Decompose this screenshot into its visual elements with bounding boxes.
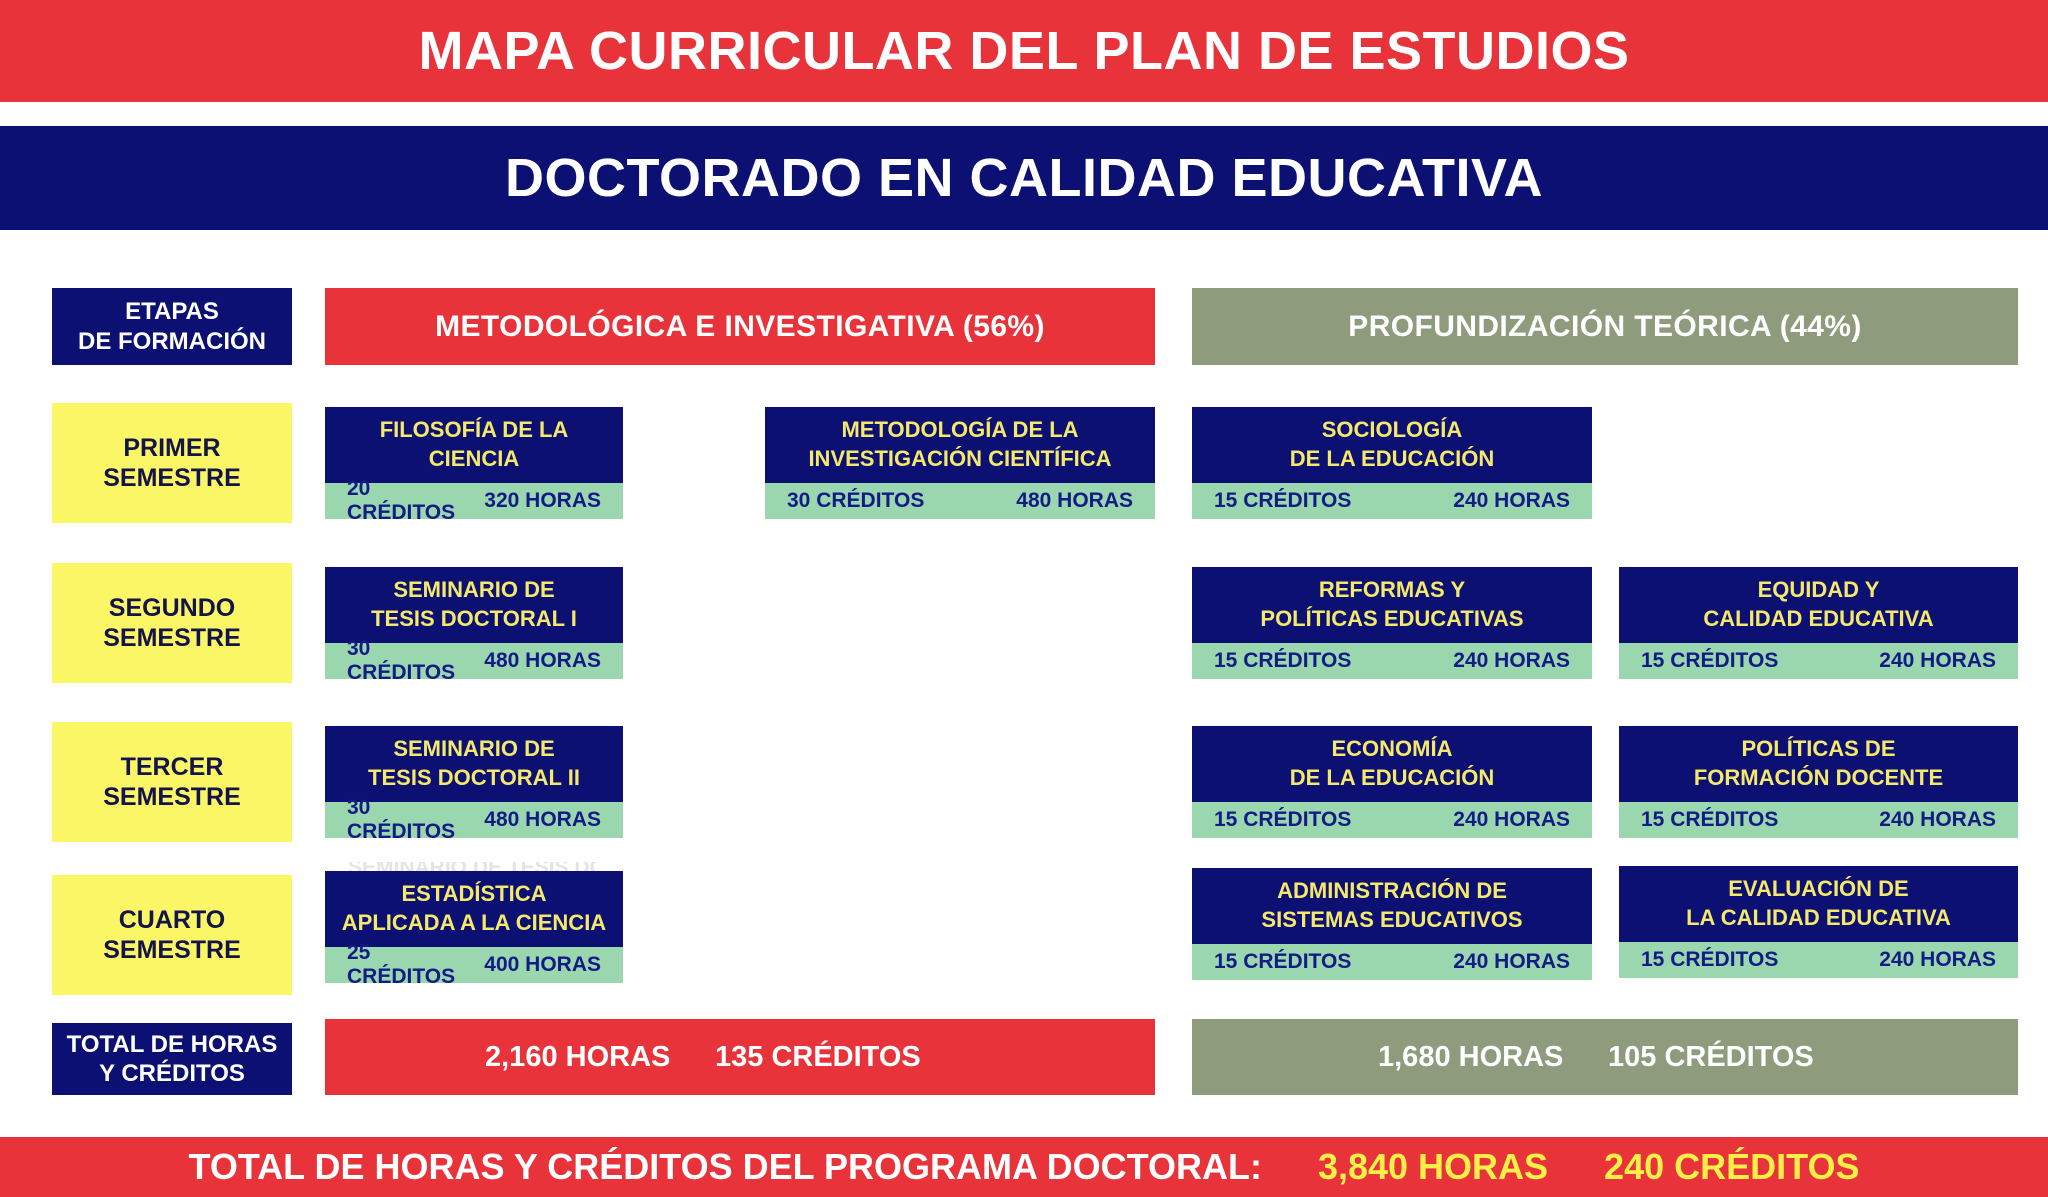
course-hours: 480 HORAS: [484, 808, 601, 832]
course-hours: 320 HORAS: [484, 489, 601, 513]
course-credits: 15 CRÉDITOS: [1641, 808, 1778, 832]
course-title: SEMINARIO DE TESIS DOCTORAL I: [325, 567, 623, 643]
course-meta: 15 CRÉDITOS 240 HORAS: [1192, 944, 1592, 980]
course-meta: 15 CRÉDITOS 240 HORAS: [1192, 483, 1592, 519]
course-card-metodologia-de-la-investigacion-cientifica[interactable]: METODOLOGÍA DE LA INVESTIGACIÓN CIENTÍFI…: [765, 407, 1155, 519]
course-hours: 240 HORAS: [1879, 948, 1996, 972]
course-hours: 400 HORAS: [484, 953, 601, 977]
totals-methodological-bar: 2,160 HORAS 135 CRÉDITOS: [325, 1019, 1155, 1095]
course-title: FILOSOFÍA DE LA CIENCIA: [325, 407, 623, 483]
course-card-seminario-de-tesis-doctoral-ii[interactable]: SEMINARIO DE TESIS DOCTORAL II 30 CRÉDIT…: [325, 726, 623, 838]
program-total-credits: 240 CRÉDITOS: [1604, 1146, 1859, 1188]
course-credits: 15 CRÉDITOS: [1214, 489, 1351, 513]
course-title: ESTADÍSTICA APLICADA A LA CIENCIA: [325, 871, 623, 947]
course-hours: 240 HORAS: [1879, 808, 1996, 832]
totals-theoretical-credits: 105 CRÉDITOS: [1608, 1041, 1814, 1074]
semester-label-tercer: TERCER SEMESTRE: [52, 722, 292, 842]
stage-header-methodological-label: METODOLÓGICA E INVESTIGATIVA (56%): [435, 310, 1045, 344]
course-credits: 15 CRÉDITOS: [1214, 649, 1351, 673]
course-hours: 240 HORAS: [1453, 950, 1570, 974]
totals-legend-label: TOTAL DE HORAS Y CRÉDITOS: [67, 1030, 278, 1089]
course-card-estadistica-aplicada-a-la-ciencia[interactable]: ESTADÍSTICA APLICADA A LA CIENCIA 25 CRÉ…: [325, 871, 623, 983]
program-title: DOCTORADO EN CALIDAD EDUCATIVA: [505, 147, 1543, 209]
course-meta: 30 CRÉDITOS 480 HORAS: [325, 643, 623, 679]
course-meta: 30 CRÉDITOS 480 HORAS: [325, 802, 623, 838]
totals-legend-box: TOTAL DE HORAS Y CRÉDITOS: [52, 1023, 292, 1095]
main-title-bar: MAPA CURRICULAR DEL PLAN DE ESTUDIOS: [0, 0, 2048, 102]
program-title-bar: DOCTORADO EN CALIDAD EDUCATIVA: [0, 126, 2048, 230]
program-total-hours: 3,840 HORAS: [1318, 1146, 1548, 1188]
semester-label-segundo-text: SEGUNDO SEMESTRE: [103, 593, 241, 654]
course-card-administracion-de-sistemas-educativos[interactable]: ADMINISTRACIÓN DE SISTEMAS EDUCATIVOS 15…: [1192, 868, 1592, 980]
program-totals-label: TOTAL DE HORAS Y CRÉDITOS DEL PROGRAMA D…: [189, 1146, 1262, 1188]
course-credits: 30 CRÉDITOS: [787, 489, 924, 513]
course-meta: 15 CRÉDITOS 240 HORAS: [1619, 643, 2018, 679]
course-credits: 20 CRÉDITOS: [347, 477, 484, 525]
course-title: SEMINARIO DE TESIS DOCTORAL II: [325, 726, 623, 802]
semester-label-cuarto: CUARTO SEMESTRE: [52, 875, 292, 995]
course-hours: 240 HORAS: [1453, 808, 1570, 832]
course-title: REFORMAS Y POLÍTICAS EDUCATIVAS: [1192, 567, 1592, 643]
course-meta: 20 CRÉDITOS 320 HORAS: [325, 483, 623, 519]
curriculum-grid: ETAPAS DE FORMACIÓN METODOLÓGICA E INVES…: [0, 230, 2048, 1120]
course-meta: 15 CRÉDITOS 240 HORAS: [1192, 802, 1592, 838]
course-card-sociologia-de-la-educacion[interactable]: SOCIOLOGÍA DE LA EDUCACIÓN 15 CRÉDITOS 2…: [1192, 407, 1592, 519]
course-card-reformas-y-politicas-educativas[interactable]: REFORMAS Y POLÍTICAS EDUCATIVAS 15 CRÉDI…: [1192, 567, 1592, 679]
semester-label-segundo: SEGUNDO SEMESTRE: [52, 563, 292, 683]
course-meta: 15 CRÉDITOS 240 HORAS: [1619, 942, 2018, 978]
totals-methodological-hours: 2,160 HORAS: [485, 1041, 715, 1074]
stages-legend-box: ETAPAS DE FORMACIÓN: [52, 288, 292, 365]
totals-methodological-credits: 135 CRÉDITOS: [715, 1041, 921, 1074]
stages-legend-label: ETAPAS DE FORMACIÓN: [78, 297, 266, 356]
course-hours: 480 HORAS: [484, 649, 601, 673]
course-card-politicas-de-formacion-docente[interactable]: POLÍTICAS DE FORMACIÓN DOCENTE 15 CRÉDIT…: [1619, 726, 2018, 838]
course-meta: 25 CRÉDITOS 400 HORAS: [325, 947, 623, 983]
totals-theoretical-hours: 1,680 HORAS: [1378, 1041, 1608, 1074]
course-meta: 15 CRÉDITOS 240 HORAS: [1192, 643, 1592, 679]
course-credits: 25 CRÉDITOS: [347, 941, 484, 989]
course-title: ECONOMÍA DE LA EDUCACIÓN: [1192, 726, 1592, 802]
stage-header-theoretical: PROFUNDIZACIÓN TEÓRICA (44%): [1192, 288, 2018, 365]
totals-theoretical-bar: 1,680 HORAS 105 CRÉDITOS: [1192, 1019, 2018, 1095]
stage-header-methodological: METODOLÓGICA E INVESTIGATIVA (56%): [325, 288, 1155, 365]
course-title: METODOLOGÍA DE LA INVESTIGACIÓN CIENTÍFI…: [765, 407, 1155, 483]
course-title: EVALUACIÓN DE LA CALIDAD EDUCATIVA: [1619, 866, 2018, 942]
semester-label-cuarto-text: CUARTO SEMESTRE: [103, 905, 241, 966]
course-credits: 15 CRÉDITOS: [1214, 950, 1351, 974]
course-hours: 240 HORAS: [1879, 649, 1996, 673]
program-totals-footer: TOTAL DE HORAS Y CRÉDITOS DEL PROGRAMA D…: [0, 1137, 2048, 1197]
course-card-evaluacion-de-la-calidad-educativa[interactable]: EVALUACIÓN DE LA CALIDAD EDUCATIVA 15 CR…: [1619, 866, 2018, 978]
course-title: POLÍTICAS DE FORMACIÓN DOCENTE: [1619, 726, 2018, 802]
course-title: ADMINISTRACIÓN DE SISTEMAS EDUCATIVOS: [1192, 868, 1592, 944]
course-credits: 15 CRÉDITOS: [1641, 948, 1778, 972]
semester-label-tercer-text: TERCER SEMESTRE: [103, 752, 241, 813]
course-card-economia-de-la-educacion[interactable]: ECONOMÍA DE LA EDUCACIÓN 15 CRÉDITOS 240…: [1192, 726, 1592, 838]
semester-label-primer: PRIMER SEMESTRE: [52, 403, 292, 523]
course-card-equidad-y-calidad-educativa[interactable]: EQUIDAD Y CALIDAD EDUCATIVA 15 CRÉDITOS …: [1619, 567, 2018, 679]
course-meta: 30 CRÉDITOS 480 HORAS: [765, 483, 1155, 519]
course-credits: 15 CRÉDITOS: [1214, 808, 1351, 832]
course-credits: 15 CRÉDITOS: [1641, 649, 1778, 673]
stage-header-theoretical-label: PROFUNDIZACIÓN TEÓRICA (44%): [1348, 310, 1861, 344]
course-card-filosofia-de-la-ciencia[interactable]: FILOSOFÍA DE LA CIENCIA 20 CRÉDITOS 320 …: [325, 407, 623, 519]
course-title: SOCIOLOGÍA DE LA EDUCACIÓN: [1192, 407, 1592, 483]
course-hours: 240 HORAS: [1453, 649, 1570, 673]
course-card-seminario-de-tesis-doctoral-i[interactable]: SEMINARIO DE TESIS DOCTORAL I 30 CRÉDITO…: [325, 567, 623, 679]
course-credits: 30 CRÉDITOS: [347, 796, 484, 844]
semester-label-primer-text: PRIMER SEMESTRE: [103, 433, 241, 494]
course-hours: 480 HORAS: [1016, 489, 1133, 513]
course-hours: 240 HORAS: [1453, 489, 1570, 513]
page-title: MAPA CURRICULAR DEL PLAN DE ESTUDIOS: [418, 20, 1629, 82]
course-credits: 30 CRÉDITOS: [347, 637, 484, 685]
course-meta: 15 CRÉDITOS 240 HORAS: [1619, 802, 2018, 838]
course-title: EQUIDAD Y CALIDAD EDUCATIVA: [1619, 567, 2018, 643]
